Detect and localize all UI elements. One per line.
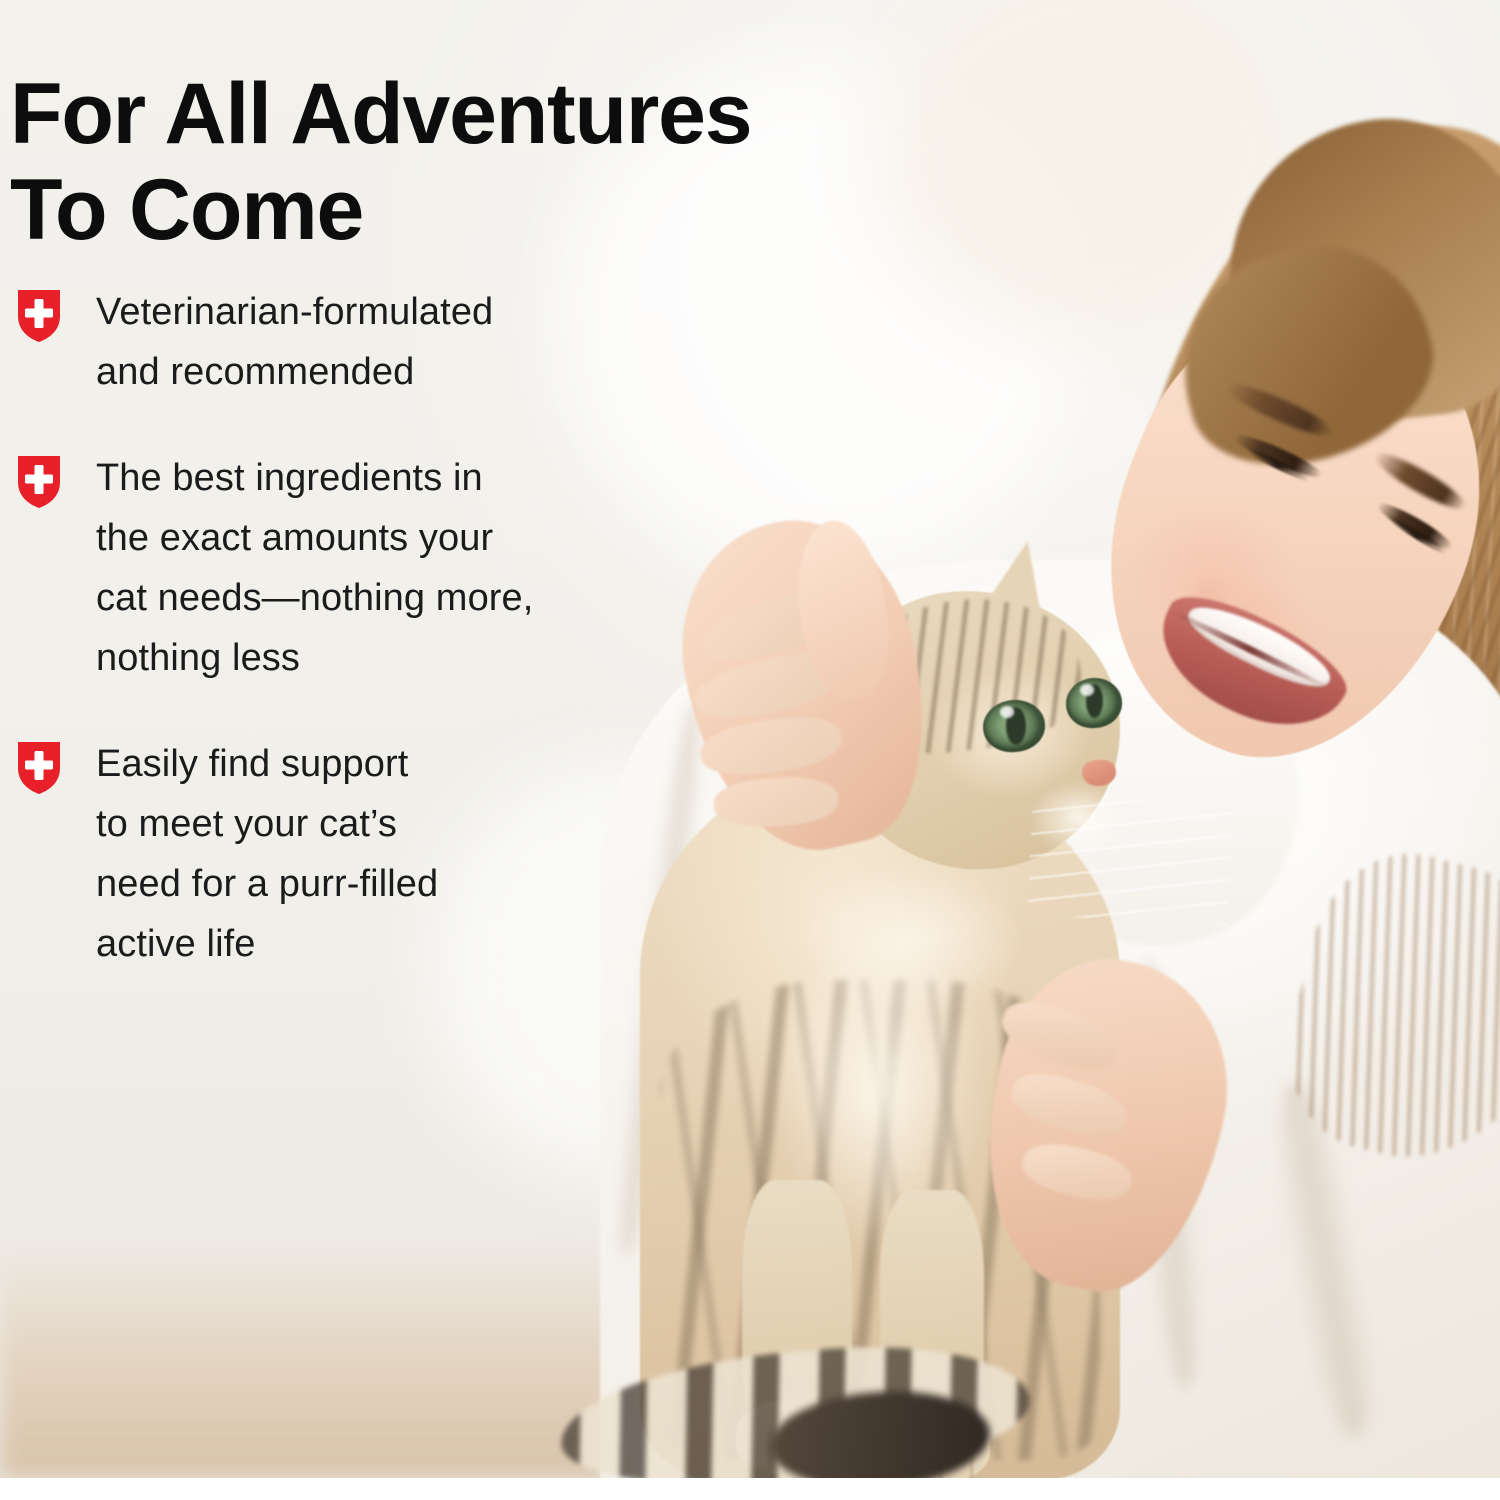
benefit-text: Veterinarian-formulated and recommended bbox=[96, 282, 493, 402]
benefit-text: Easily find support to meet your cat’s n… bbox=[96, 734, 438, 974]
shield-plus-icon bbox=[14, 452, 64, 510]
list-item: Easily find support to meet your cat’s n… bbox=[0, 734, 640, 974]
page-title: For All Adventures To Come bbox=[10, 66, 990, 259]
shield-plus-icon bbox=[14, 738, 64, 796]
cat-eye-glint-right bbox=[1080, 684, 1094, 696]
benefit-list: Veterinarian-formulated and recommended … bbox=[0, 282, 640, 1020]
cat-eye-glint-left bbox=[1000, 706, 1014, 718]
benefit-text: The best ingredients in the exact amount… bbox=[96, 448, 533, 688]
shield-plus-icon bbox=[14, 286, 64, 344]
marketing-ad: For All Adventures To Come Veterinarian-… bbox=[0, 0, 1500, 1500]
bottom-white-strip bbox=[0, 1478, 1500, 1500]
copy-panel: For All Adventures To Come Veterinarian-… bbox=[0, 0, 700, 1500]
cat-whiskers bbox=[1027, 795, 1233, 925]
list-item: Veterinarian-formulated and recommended bbox=[0, 282, 640, 402]
list-item: The best ingredients in the exact amount… bbox=[0, 448, 640, 688]
